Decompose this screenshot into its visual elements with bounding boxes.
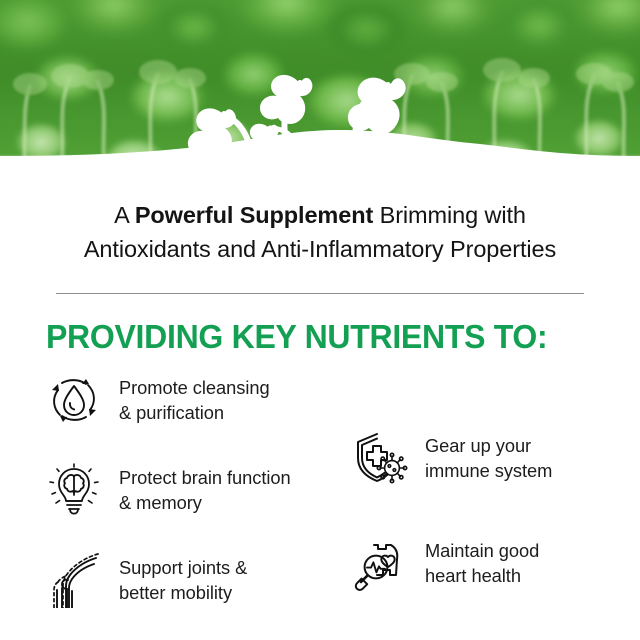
benefits-column-left: Promote cleansing & purification <box>46 355 346 625</box>
shield-cross-virus-icon <box>352 430 408 486</box>
benefit-label: Support joints & better mobility <box>119 555 247 605</box>
benefit-item-cleansing: Promote cleansing & purification <box>46 355 346 445</box>
headline-line1-suffix: Brimming with <box>373 202 526 228</box>
knee-joint-icon <box>46 552 102 608</box>
benefits-right-offset: Gear up your immune system Mainta <box>352 355 640 615</box>
benefits-column-right: Gear up your immune system Mainta <box>352 355 640 615</box>
headline: A Powerful Supplement Brimming with Anti… <box>44 198 596 266</box>
heart-magnifier-icon <box>352 535 408 591</box>
section-divider <box>56 293 584 294</box>
benefit-item-immune: Gear up your immune system <box>352 405 640 510</box>
benefit-item-heart: Maintain good heart health <box>352 510 640 615</box>
microgreens-photo <box>0 0 640 164</box>
headline-line1-bold: Powerful Supplement <box>135 202 373 228</box>
benefit-item-brain: Protect brain function & memory <box>46 445 346 535</box>
benefit-label: Gear up your immune system <box>425 433 552 483</box>
hero-banner <box>0 0 640 164</box>
benefit-label: Protect brain function & memory <box>119 465 291 515</box>
hero-bottom-fade <box>0 154 640 164</box>
benefit-item-joints: Support joints & better mobility <box>46 535 346 625</box>
white-sprout-overlay <box>0 44 640 164</box>
water-drop-cycle-icon <box>46 372 102 428</box>
section-heading: PROVIDING KEY NUTRIENTS TO: <box>46 319 622 355</box>
brain-lightbulb-icon <box>46 462 102 518</box>
benefit-label: Promote cleansing & purification <box>119 375 270 425</box>
infographic-page: A Powerful Supplement Brimming with Anti… <box>0 0 640 640</box>
headline-line1-prefix: A <box>114 202 135 228</box>
headline-line2: Antioxidants and Anti-Inflammatory Prope… <box>84 236 556 262</box>
benefits-section: Promote cleansing & purification <box>0 355 640 617</box>
benefit-label: Maintain good heart health <box>425 538 539 588</box>
